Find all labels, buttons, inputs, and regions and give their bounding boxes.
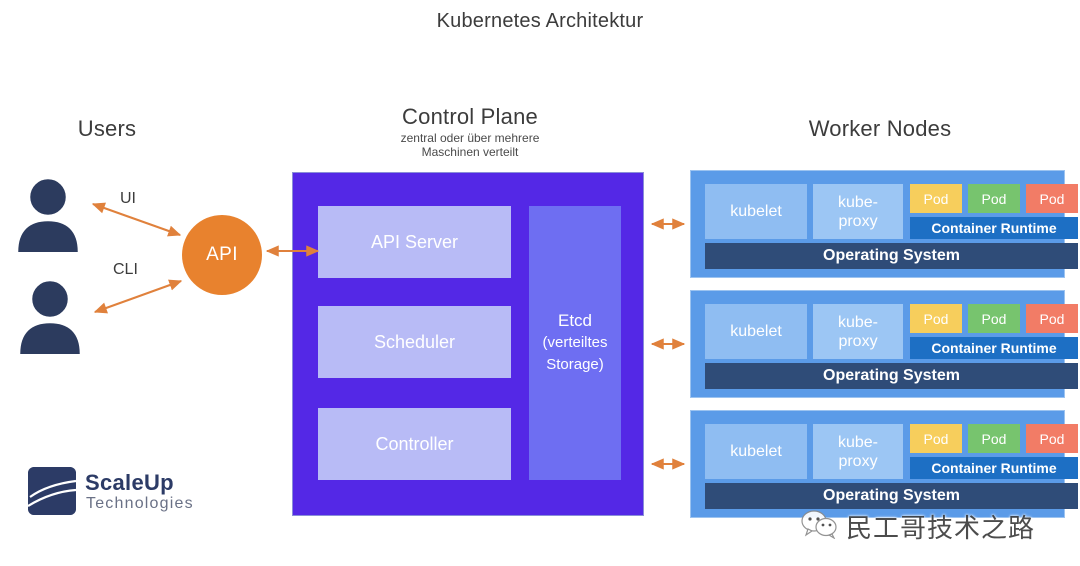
pod-label: Pod [982, 191, 1007, 207]
control-plane-container: API Server Scheduler Controller Etcd (ve… [292, 172, 644, 516]
scaleup-logo: ScaleUp Technologies [28, 462, 228, 520]
worker-nodes-heading: Worker Nodes [735, 116, 1025, 142]
pod-label: Pod [982, 431, 1007, 447]
control-plane-subtitle: zentral oder über mehrere Maschinen vert… [330, 131, 610, 159]
pod-label: Pod [924, 191, 949, 207]
pod-label: Pod [924, 431, 949, 447]
pod-label: Pod [1040, 431, 1065, 447]
operating-system-box[interactable]: Operating System [705, 483, 1078, 509]
kube-proxy-label-line1: kube- [838, 193, 878, 212]
api-label: API [206, 244, 238, 266]
page-title: Kubernetes Architektur [0, 10, 1080, 33]
wechat-icon [800, 509, 840, 544]
kube-proxy-box[interactable]: kube- proxy [813, 304, 903, 359]
pod-label: Pod [924, 311, 949, 327]
etcd-sub-line2: Storage) [542, 354, 607, 376]
pod-label: Pod [982, 311, 1007, 327]
pod-box[interactable]: Pod [1026, 304, 1078, 333]
control-plane-box-etcd[interactable]: Etcd (verteiltes Storage) [529, 206, 621, 480]
container-runtime-box[interactable]: Container Runtime [910, 337, 1078, 359]
container-runtime-box[interactable]: Container Runtime [910, 457, 1078, 479]
pod-box[interactable]: Pod [968, 184, 1020, 213]
operating-system-label: Operating System [823, 487, 960, 505]
scaleup-logo-subtitle: Technologies [86, 495, 194, 513]
watermark: 民工哥技术之路 [800, 508, 1035, 545]
kubelet-label: kubelet [730, 443, 782, 461]
worker-node: kubelet kube- proxy Pod Pod Pod Containe… [690, 170, 1065, 278]
operating-system-box[interactable]: Operating System [705, 243, 1078, 269]
control-plane-box-label: API Server [371, 232, 458, 253]
pod-box[interactable]: Pod [1026, 184, 1078, 213]
control-plane-subtitle-line2: Maschinen verteilt [330, 145, 610, 159]
pod-box[interactable]: Pod [910, 184, 962, 213]
control-plane-subtitle-line1: zentral oder über mehrere [330, 131, 610, 145]
user-icon [12, 176, 84, 252]
control-plane-box-controller[interactable]: Controller [318, 408, 511, 480]
pod-label: Pod [1040, 311, 1065, 327]
kubelet-label: kubelet [730, 203, 782, 221]
kube-proxy-label-line1: kube- [838, 433, 878, 452]
control-plane-box-api-server[interactable]: API Server [318, 206, 511, 278]
control-plane-box-label: Controller [375, 434, 453, 455]
watermark-text: 民工哥技术之路 [846, 508, 1035, 545]
pod-box[interactable]: Pod [968, 424, 1020, 453]
worker-node: kubelet kube- proxy Pod Pod Pod Containe… [690, 410, 1065, 518]
kube-proxy-label-line1: kube- [838, 313, 878, 332]
container-runtime-label: Container Runtime [931, 460, 1056, 476]
worker-node: kubelet kube- proxy Pod Pod Pod Containe… [690, 290, 1065, 398]
pod-label: Pod [1040, 191, 1065, 207]
api-node[interactable]: API [182, 215, 262, 295]
kube-proxy-box[interactable]: kube- proxy [813, 184, 903, 239]
etcd-sub-line1: (verteiltes [542, 332, 607, 354]
kube-proxy-label-line2: proxy [838, 332, 878, 351]
container-runtime-box[interactable]: Container Runtime [910, 217, 1078, 239]
container-runtime-label: Container Runtime [931, 340, 1056, 356]
kubelet-box[interactable]: kubelet [705, 304, 807, 359]
pod-box[interactable]: Pod [910, 304, 962, 333]
etcd-name: Etcd [542, 310, 607, 332]
kube-proxy-label-line2: proxy [838, 212, 878, 231]
pod-box[interactable]: Pod [910, 424, 962, 453]
operating-system-label: Operating System [823, 247, 960, 265]
kubelet-label: kubelet [730, 323, 782, 341]
user-icon [14, 278, 86, 354]
pod-box[interactable]: Pod [968, 304, 1020, 333]
pod-box[interactable]: Pod [1026, 424, 1078, 453]
control-plane-heading: Control Plane [320, 104, 620, 130]
scaleup-logo-name: ScaleUp [85, 470, 174, 496]
arrow-cli [95, 281, 181, 312]
kubelet-box[interactable]: kubelet [705, 184, 807, 239]
operating-system-box[interactable]: Operating System [705, 363, 1078, 389]
control-plane-box-label: Scheduler [374, 332, 455, 353]
edge-label-cli: CLI [113, 261, 138, 279]
diagram-canvas: Kubernetes Architektur Users Control Pla… [0, 0, 1080, 566]
control-plane-box-scheduler[interactable]: Scheduler [318, 306, 511, 378]
users-heading: Users [22, 116, 192, 142]
operating-system-label: Operating System [823, 367, 960, 385]
kubelet-box[interactable]: kubelet [705, 424, 807, 479]
kube-proxy-box[interactable]: kube- proxy [813, 424, 903, 479]
container-runtime-label: Container Runtime [931, 220, 1056, 236]
scaleup-logo-mark-icon [28, 467, 76, 515]
kube-proxy-label-line2: proxy [838, 452, 878, 471]
arrow-ui [93, 204, 180, 235]
edge-label-ui: UI [120, 190, 136, 208]
